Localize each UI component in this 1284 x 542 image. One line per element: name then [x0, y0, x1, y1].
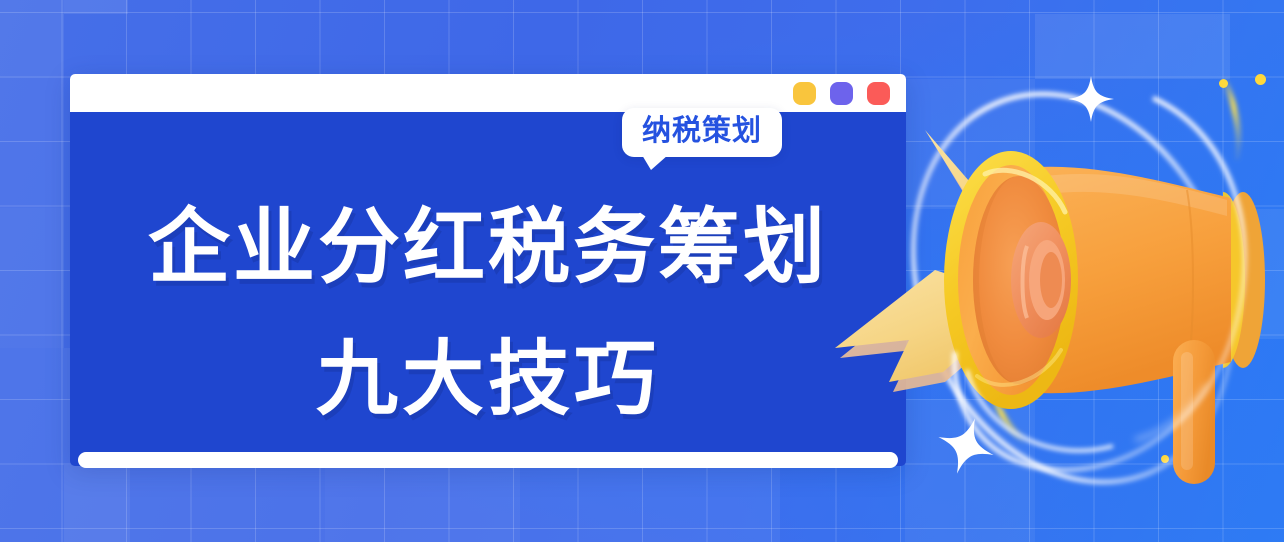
- sparkle-top-icon: [1068, 76, 1114, 122]
- decor-dot-icon: [1219, 79, 1228, 88]
- window-dot-red-icon[interactable]: [867, 82, 890, 105]
- decor-dot-icon: [1161, 455, 1169, 463]
- decor-dot-icon: [1255, 74, 1266, 85]
- decor-dot-icon: [1190, 420, 1196, 426]
- headline-line-1: 企业分红税务筹划: [70, 196, 906, 301]
- headline-group: 企业分红税务筹划 九大技巧: [70, 196, 906, 436]
- window-bottom-bar: [78, 452, 898, 468]
- badge-speech-bubble: 纳税策划: [622, 108, 782, 157]
- sparkle-bottom-icon: [937, 417, 995, 475]
- badge-label: 纳税策划: [642, 117, 762, 146]
- window-dot-purple-icon[interactable]: [830, 82, 853, 105]
- bubble-tail-icon: [642, 155, 668, 170]
- headline-line-2: 九大技巧: [70, 325, 906, 436]
- window-title-bar: [70, 74, 906, 112]
- decor-dot-icon: [975, 298, 982, 305]
- window-dot-yellow-icon[interactable]: [793, 82, 816, 105]
- poster-banner: 企业分红税务筹划 九大技巧 纳税策划: [0, 0, 1284, 542]
- window-controls: [793, 82, 890, 105]
